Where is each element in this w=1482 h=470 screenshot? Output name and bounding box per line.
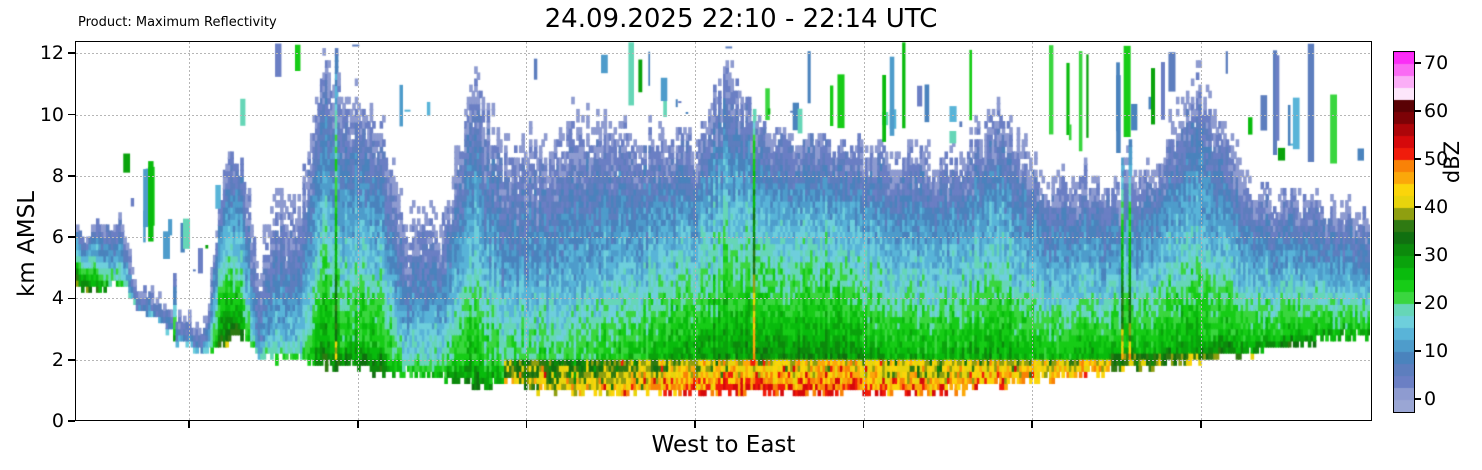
colorbar-label-holder: dBZ (1352, 150, 1482, 310)
y-axis-tick-mark (68, 175, 75, 177)
y-axis-tick-mark (68, 236, 75, 238)
colorbar-tick-mark (1414, 110, 1421, 112)
y-axis-tick-label: 8 (52, 165, 64, 187)
x-axis-tick-mark (357, 421, 359, 428)
x-axis-tick-mark (1200, 421, 1202, 428)
radar-cross-section-figure: 24.09.2025 22:10 - 22:14 UTC Product: Ma… (0, 0, 1482, 470)
reflectivity-heatmap (76, 42, 1370, 419)
product-label: Product: Maximum Reflectivity (78, 15, 277, 30)
y-axis-tick-label: 2 (52, 349, 64, 371)
x-axis-tick-mark (1031, 421, 1033, 428)
colorbar-tick-mark (1414, 62, 1421, 64)
y-axis-tick-mark (68, 52, 75, 54)
colorbar-tick-label: 10 (1424, 340, 1448, 362)
colorbar-tick-mark (1414, 350, 1421, 352)
colorbar-tick-label: 0 (1424, 388, 1436, 410)
y-axis-tick-mark (68, 298, 75, 300)
y-axis-tick-mark (68, 114, 75, 116)
x-axis-label: West to East (75, 432, 1372, 458)
y-axis-tick-label: 10 (40, 104, 64, 126)
x-axis-tick-mark (188, 421, 190, 428)
y-axis-tick-label: 12 (40, 42, 64, 64)
x-axis-tick-mark (526, 421, 528, 428)
y-axis-tick-mark (68, 359, 75, 361)
colorbar-axis-label: dBZ (1440, 62, 1464, 262)
y-axis-tick-label: 6 (52, 226, 64, 248)
y-axis-tick-label: 0 (52, 410, 64, 432)
x-axis-tick-mark (694, 421, 696, 428)
plot-area (75, 41, 1372, 421)
x-axis-tick-mark (863, 421, 865, 428)
colorbar-tick-mark (1414, 398, 1421, 400)
y-axis-tick-label: 4 (52, 287, 64, 309)
y-axis-tick-mark (68, 420, 75, 422)
y-axis-label: km AMSL (14, 144, 40, 344)
